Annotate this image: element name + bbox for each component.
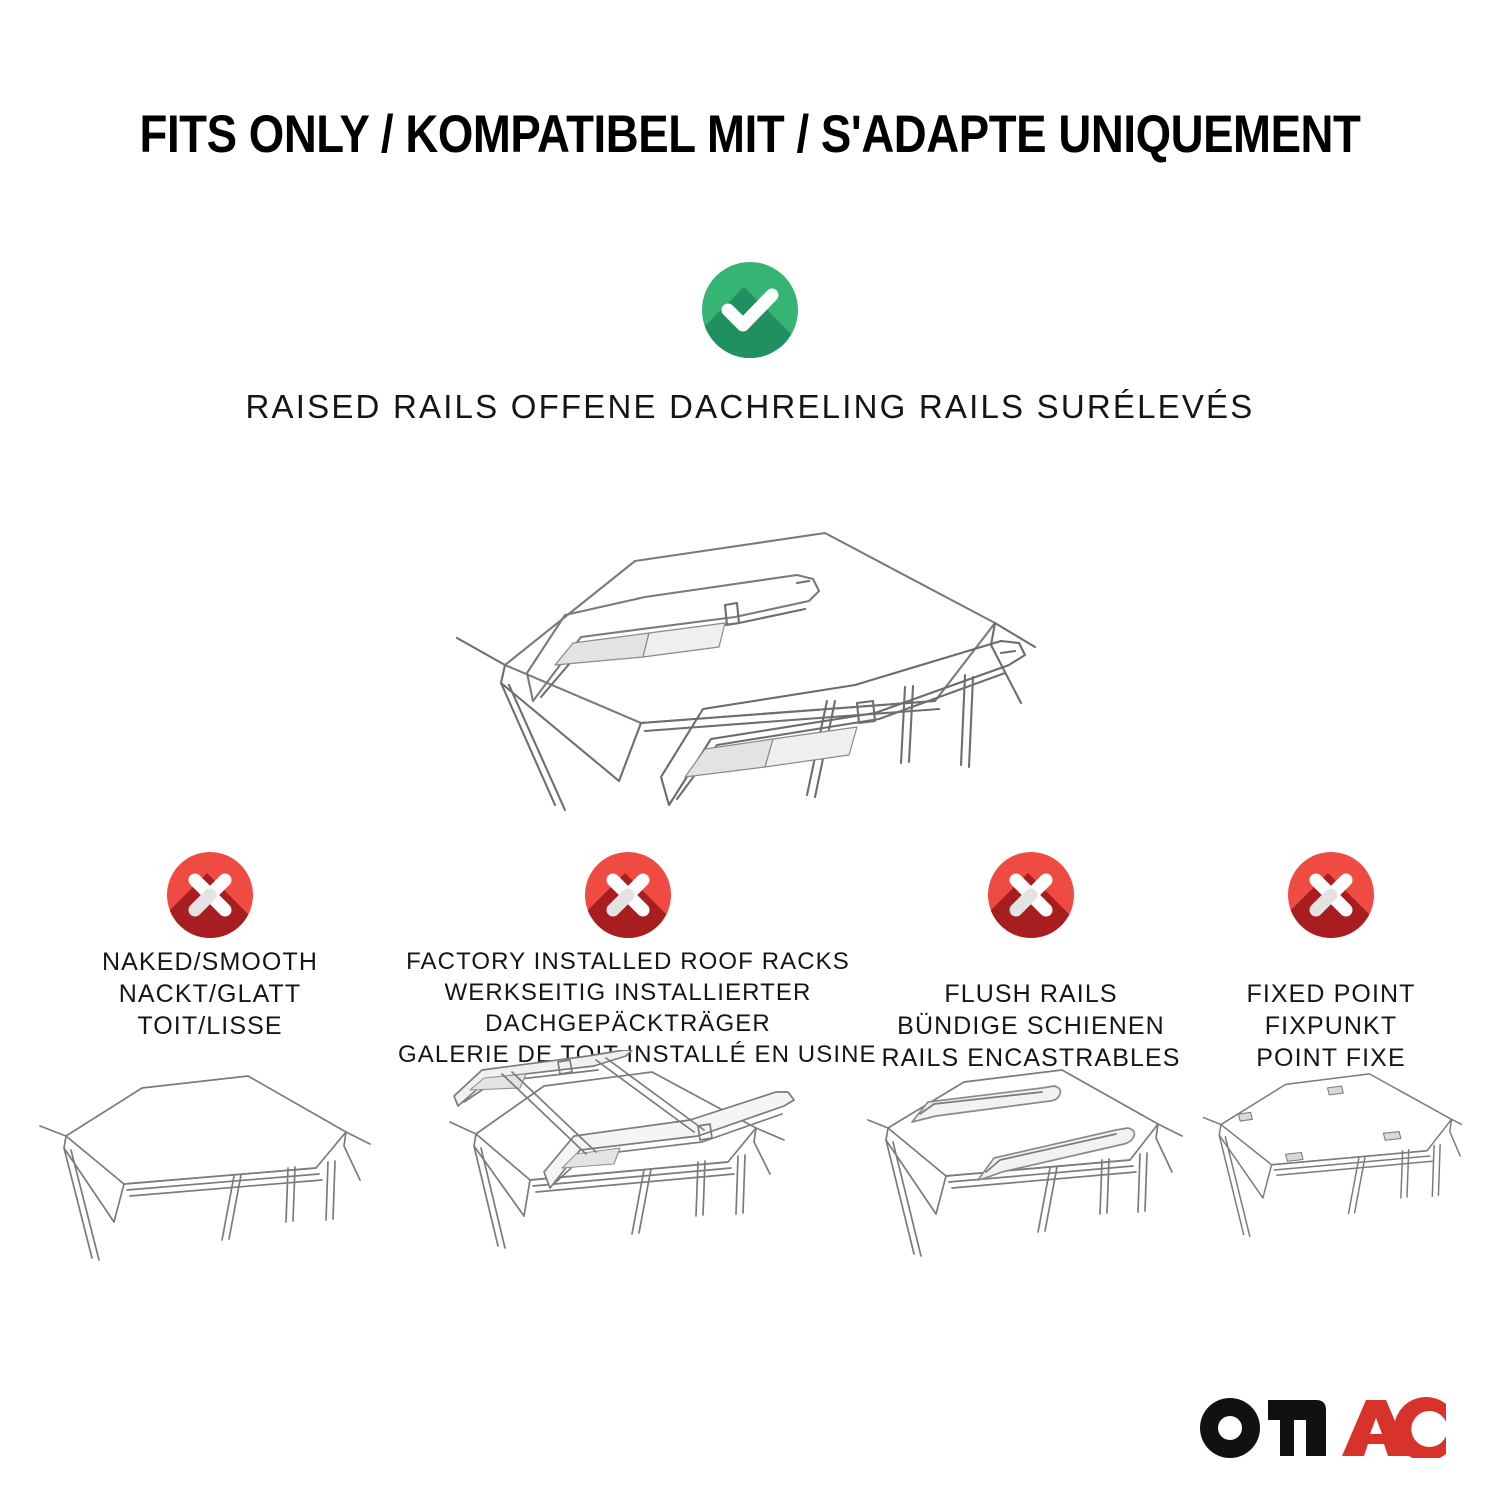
incompatible-labels-0: NAKED/SMOOTH NACKT/GLATT TOIT/LISSE [30, 946, 390, 1042]
incompatible-column-flush-rails: FLUSH RAILS BÜNDIGE SCHIENEN RAILS ENCAS… [866, 852, 1196, 1074]
incompatible-column-factory-racks: FACTORY INSTALLED ROOF RACKS WERKSEITIG … [398, 852, 858, 1070]
x-circle-icon [167, 852, 253, 938]
logo-letter-m [1268, 1400, 1326, 1456]
omac-logo-mark [1198, 1396, 1448, 1458]
logo-letter-o [1200, 1398, 1260, 1458]
x-icon-wrap-3 [1200, 852, 1462, 944]
car-roof-fixed-point-sketch [1200, 1056, 1462, 1256]
car-roof-factory-racks-sketch [398, 1050, 858, 1250]
omac-logo [1198, 1400, 1448, 1458]
label-en-0: NAKED/SMOOTH [30, 946, 390, 978]
label-de2-1: DACHGEPÄCKTRÄGER [398, 1008, 858, 1039]
compatible-labels: RAISED RAILS OFFENE DACHRELING RAILS SUR… [0, 385, 1500, 428]
x-circle-icon [1288, 852, 1374, 938]
cross-mark-icon [1288, 852, 1374, 938]
compatible-label-fr: RAILS SURÉLEVÉS [919, 388, 1255, 425]
incompatible-section: NAKED/SMOOTH NACKT/GLATT TOIT/LISSE [0, 852, 1500, 1292]
label-de1-1: WERKSEITIG INSTALLIERTER [398, 977, 858, 1008]
cross-mark-icon [988, 852, 1074, 938]
car-roof-raised-rails-sketch [405, 505, 1095, 835]
cross-mark-icon [167, 852, 253, 938]
car-roof-flush-rails-sketch [866, 1062, 1196, 1262]
label-de-0: NACKT/GLATT [30, 978, 390, 1010]
x-icon-wrap-2 [866, 852, 1196, 944]
label-de-2: BÜNDIGE SCHIENEN [866, 1010, 1196, 1042]
compatible-label-de: OFFENE DACHRELING [511, 388, 908, 425]
compatible-label-en: RAISED RAILS [246, 388, 500, 425]
compatible-section: RAISED RAILS OFFENE DACHRELING RAILS SUR… [0, 262, 1500, 428]
label-en-1: FACTORY INSTALLED ROOF RACKS [398, 946, 858, 977]
incompatible-column-naked-smooth: NAKED/SMOOTH NACKT/GLATT TOIT/LISSE [30, 852, 390, 1042]
incompatible-labels-2: FLUSH RAILS BÜNDIGE SCHIENEN RAILS ENCAS… [866, 978, 1196, 1074]
x-circle-icon [585, 852, 671, 938]
x-icon-wrap-0 [30, 852, 390, 944]
logo-letter-c [1394, 1397, 1446, 1458]
label-en-3: FIXED POINT [1200, 978, 1462, 1010]
fitment-infographic: FITS ONLY / KOMPATIBEL MIT / S'ADAPTE UN… [0, 0, 1500, 1500]
x-circle-icon [988, 852, 1074, 938]
check-circle-icon [702, 262, 798, 358]
cross-mark-icon [585, 852, 671, 938]
incompatible-column-fixed-point: FIXED POINT FIXPUNKT POINT FIXE [1200, 852, 1462, 1074]
x-icon-wrap-1 [398, 852, 858, 944]
page-title: FITS ONLY / KOMPATIBEL MIT / S'ADAPTE UN… [105, 104, 1395, 166]
label-en-2: FLUSH RAILS [866, 978, 1196, 1010]
car-roof-naked-smooth-sketch [30, 1062, 390, 1262]
label-fr-0: TOIT/LISSE [30, 1010, 390, 1042]
check-mark-icon [702, 262, 798, 358]
label-de-3: FIXPUNKT [1200, 1010, 1462, 1042]
